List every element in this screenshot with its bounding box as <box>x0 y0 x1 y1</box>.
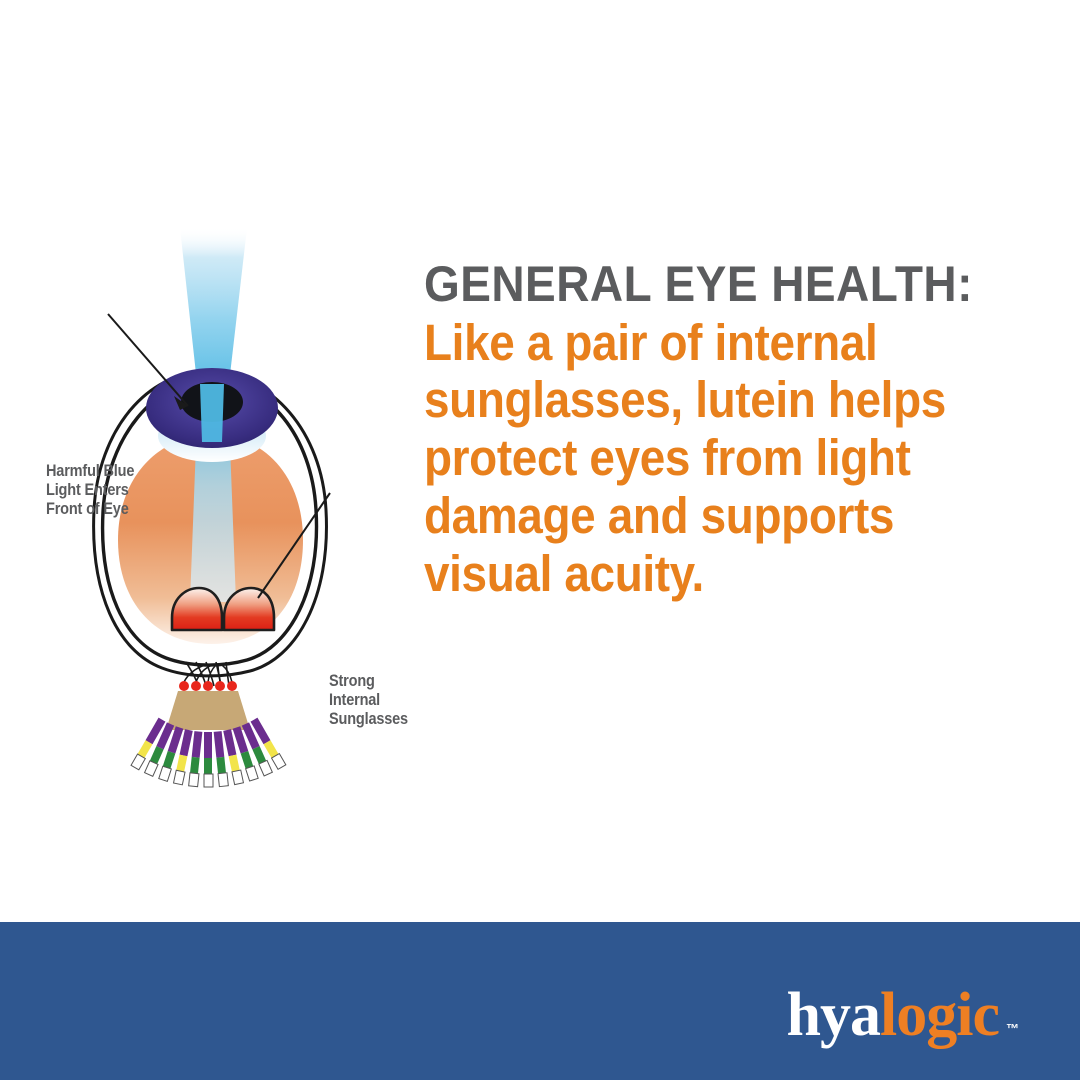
body-line: visual acuity. <box>424 545 989 603</box>
body-line: protect eyes from light <box>424 429 989 487</box>
body-line: damage and supports <box>424 487 989 545</box>
retina-detail <box>131 665 286 787</box>
footer-banner: hyalogic™ <box>0 922 1080 1080</box>
body-copy: Like a pair of internal sunglasses, lute… <box>424 314 989 603</box>
body-line: Like a pair of internal <box>424 314 989 372</box>
hyalogic-logo[interactable]: hyalogic™ <box>787 984 1018 1046</box>
beam-through-pupil <box>200 384 224 442</box>
message-block: GENERAL EYE HEALTH: Like a pair of inter… <box>424 258 1052 603</box>
logo-text-logic: logic <box>880 984 999 1046</box>
eye-diagram: Harmful Blue Light Enters Front of Eye S… <box>0 210 420 790</box>
headline: GENERAL EYE HEALTH: <box>424 258 1002 312</box>
poster-canvas: Harmful Blue Light Enters Front of Eye S… <box>0 0 1080 1080</box>
trademark-symbol: ™ <box>1006 1022 1018 1035</box>
callout-harmful-blue-light: Harmful Blue Light Enters Front of Eye <box>46 462 204 519</box>
callout-strong-internal-sunglasses: Strong Internal Sunglasses <box>329 672 452 729</box>
body-line: sunglasses, lutein helps <box>424 371 989 429</box>
blue-light-beam-icon <box>180 228 247 392</box>
logo-text-hya: hya <box>787 984 880 1046</box>
